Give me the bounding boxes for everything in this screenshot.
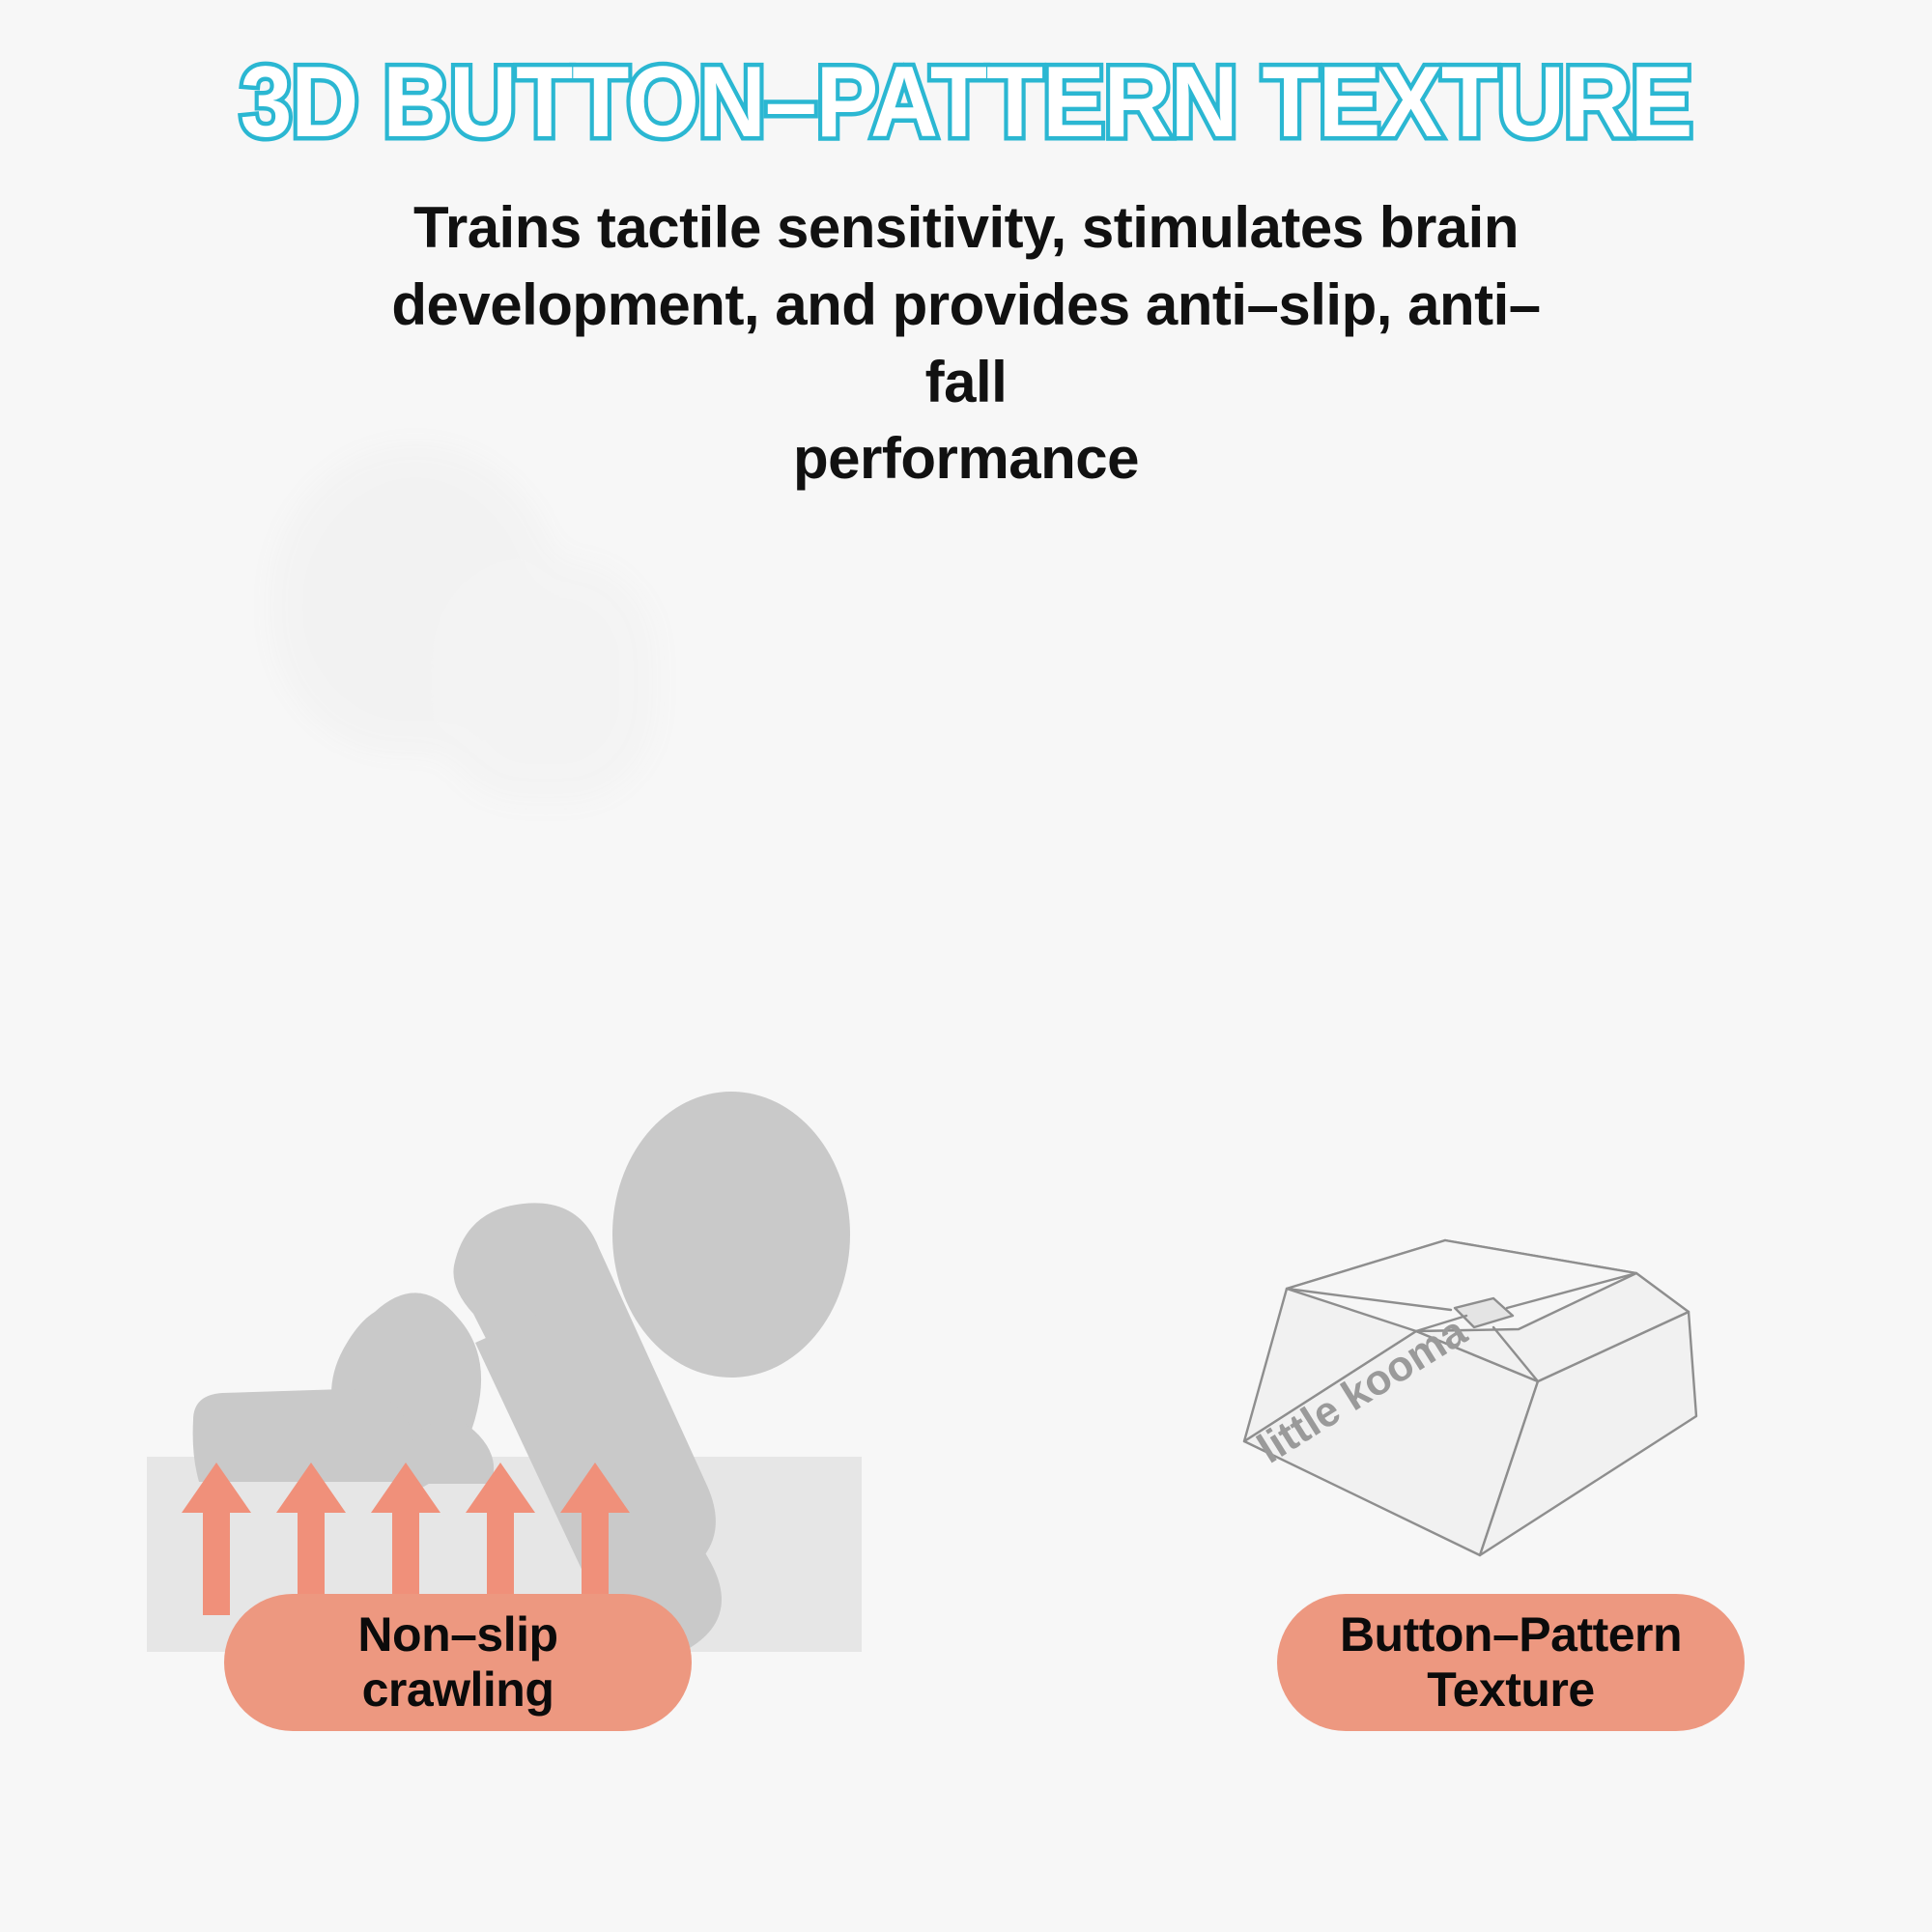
label-pill-right-text: Button–Pattern Texture [1340, 1607, 1682, 1719]
subtitle-block: Trains tactile sensitivity, stimulates b… [386, 189, 1546, 497]
label-pill-non-slip-crawling[interactable]: Non–slip crawling [224, 1594, 692, 1731]
label-pill-button-pattern-texture[interactable]: Button–Pattern Texture [1277, 1594, 1745, 1731]
label-right-line-2: Texture [1340, 1662, 1682, 1719]
label-right-line-1: Button–Pattern [1340, 1607, 1682, 1663]
illustration-crawling-baby [135, 1024, 879, 1662]
illustration-keycap-button: little kooma [1227, 1227, 1710, 1604]
label-left-line-2: crawling [357, 1662, 557, 1719]
page-title: 3D BUTTON–PATTERN TEXTURE [241, 50, 1692, 155]
subtitle-line-2: development, and provides anti–slip, ant… [386, 267, 1546, 421]
subtitle-line-1: Trains tactile sensitivity, stimulates b… [386, 189, 1546, 267]
title-container: 3D BUTTON–PATTERN TEXTURE [0, 50, 1932, 155]
label-pill-left-text: Non–slip crawling [357, 1607, 557, 1719]
baby-head [612, 1092, 850, 1378]
ghost-shape-2 [435, 560, 657, 802]
subtitle-line-3: performance [386, 420, 1546, 497]
label-left-line-1: Non–slip [357, 1607, 557, 1663]
